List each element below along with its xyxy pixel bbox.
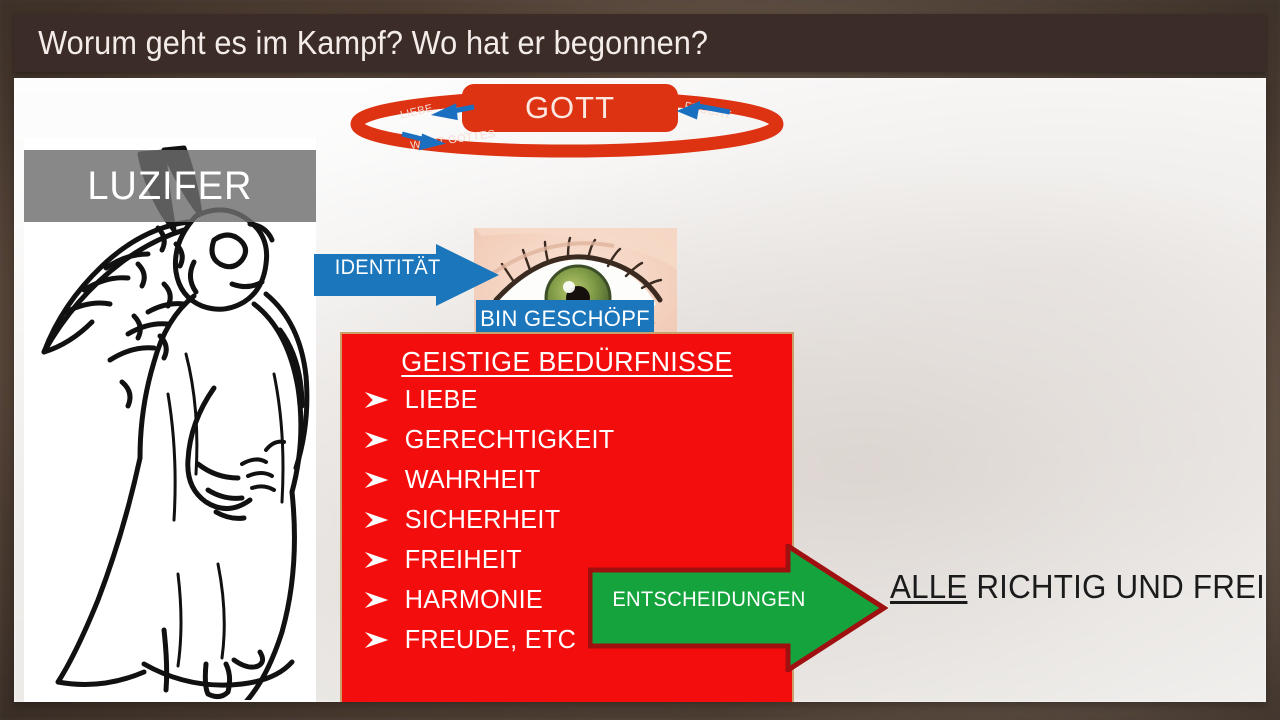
list-item-label: FREUDE, ETC <box>405 624 576 655</box>
chevron-bullet-icon <box>364 591 389 609</box>
luzifer-angel-card <box>24 138 316 702</box>
chevron-bullet-icon <box>364 551 389 569</box>
list-item-label: SICHERHEIT <box>405 504 561 535</box>
list-item-label: FREIHEIT <box>405 544 522 575</box>
bin-geschoepf-label: BIN GESCHÖPF <box>476 306 654 332</box>
slide-stage: Worum geht es im Kampf? Wo hat er begonn… <box>0 0 1280 720</box>
list-item-label: LIEBE <box>405 384 478 415</box>
entscheidungen-label: ENTSCHEIDUNGEN <box>608 588 810 612</box>
list-item: SICHERHEIT <box>364 504 779 535</box>
slide-title-bar: Worum geht es im Kampf? Wo hat er begonn… <box>14 14 1266 72</box>
outcome-emphasis: ALLE <box>890 568 967 605</box>
list-item: WAHRHEIT <box>364 464 779 495</box>
list-item-label: GERECHTIGKEIT <box>405 424 615 455</box>
list-item: LIEBE <box>364 384 779 415</box>
list-item-label: HARMONIE <box>405 584 543 615</box>
outcome-rest: RICHTIG UND FREI <box>967 568 1265 605</box>
chevron-bullet-icon <box>364 431 389 449</box>
chevron-bullet-icon <box>364 511 389 529</box>
orbit-arrows-icon <box>342 88 792 158</box>
chevron-bullet-icon <box>364 631 389 649</box>
needs-heading: GEISTIGE BEDÜRFNISSE <box>351 346 783 378</box>
gott-orbit-group: GOTT LIEBE FRUCHT WORT GOTTES <box>342 88 792 158</box>
luzifer-label: LUZIFER <box>87 164 252 209</box>
slide-content-panel: LUZIFER GOTT LIEBE FRU <box>14 78 1266 702</box>
list-item-label: WAHRHEIT <box>405 464 541 495</box>
list-item: GERECHTIGKEIT <box>364 424 779 455</box>
identitaet-label: IDENTITÄT <box>335 256 441 280</box>
outcome-text: ALLE RICHTIG UND FREI <box>890 568 1265 606</box>
identitaet-arrow: IDENTITÄT <box>314 244 499 306</box>
page-title: Worum geht es im Kampf? Wo hat er begonn… <box>14 24 708 62</box>
entscheidungen-arrow: ENTSCHEIDUNGEN <box>588 544 888 672</box>
chevron-bullet-icon <box>364 471 389 489</box>
luzifer-label-band: LUZIFER <box>24 150 316 222</box>
chevron-bullet-icon <box>364 391 389 409</box>
angel-icon <box>24 144 316 700</box>
